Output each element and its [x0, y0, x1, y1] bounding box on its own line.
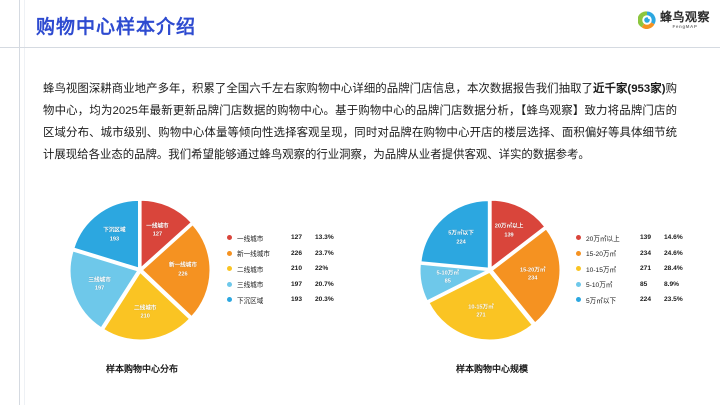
fengmap-swirl-logo-icon: [638, 11, 656, 29]
logo-text-block: 蜂鸟观察 FengMAP: [660, 11, 710, 30]
legend-percent: 23.5%: [664, 296, 698, 303]
intro-text-part1: 蜂鸟视图深耕商业地产多年，积累了全国六千左右家购物中心详细的品牌门店信息，本次数…: [43, 83, 593, 95]
brand-logo: 蜂鸟观察 FengMAP: [638, 11, 710, 30]
legend-percent: 24.6%: [664, 250, 698, 257]
left-frame-line: [19, 0, 20, 405]
legend-category-label: 20万㎡以上: [586, 233, 640, 243]
legend-percent: 20.7%: [315, 281, 349, 288]
legend-row[interactable]: 5-10万㎡858.9%: [576, 277, 698, 293]
legend-row[interactable]: 下沉区域19320.3%: [227, 292, 349, 308]
legend-value: 210: [291, 265, 315, 272]
legend-value: 139: [640, 234, 664, 241]
pie-distribution-svg: [56, 198, 224, 350]
legend-category-label: 15-20万㎡: [586, 248, 640, 258]
legend-category-label: 二线城市: [237, 264, 291, 274]
legend-color-swatch-icon: [576, 235, 581, 240]
slide-canvas: 购物中心样本介绍 蜂鸟观察 FengMAP 蜂鸟视图深耕商业地产多年，积累了全国…: [0, 0, 720, 405]
legend-row[interactable]: 一线城市12713.3%: [227, 230, 349, 246]
legend-percent: 13.3%: [315, 234, 349, 241]
legend-percent: 8.9%: [664, 281, 698, 288]
logo-brand-subtitle: FengMAP: [660, 25, 710, 30]
caption-distribution: 样本购物中心分布: [22, 362, 262, 375]
legend-distribution: 一线城市12713.3%新一线城市22623.7%二线城市21022%三线城市1…: [227, 230, 349, 308]
legend-row[interactable]: 20万㎡以上13914.6%: [576, 230, 698, 246]
legend-value: 271: [640, 265, 664, 272]
legend-color-swatch-icon: [576, 251, 581, 256]
legend-value: 193: [291, 296, 315, 303]
legend-percent: 23.7%: [315, 250, 349, 257]
legend-category-label: 新一线城市: [237, 248, 291, 258]
legend-percent: 28.4%: [664, 265, 698, 272]
pie-slice: [421, 200, 489, 268]
legend-row[interactable]: 二线城市21022%: [227, 261, 349, 277]
legend-row[interactable]: 10-15万㎡27128.4%: [576, 261, 698, 277]
pie-scale-svg: [406, 198, 574, 350]
chart-sample-mall-scale: 20万㎡以上13915-20万㎡23410-15万㎡2715-10万㎡855万㎡…: [372, 196, 712, 392]
legend-category-label: 下沉区域: [237, 295, 291, 305]
page-title: 购物中心样本介绍: [36, 12, 196, 39]
legend-row[interactable]: 新一线城市22623.7%: [227, 246, 349, 262]
legend-color-swatch-icon: [576, 266, 581, 271]
legend-value: 226: [291, 250, 315, 257]
chart-sample-mall-distribution: 一线城市127新一线城市226二线城市210三线城市197下沉区域193 一线城…: [22, 196, 362, 392]
legend-color-swatch-icon: [227, 251, 232, 256]
header-separator: [0, 47, 720, 48]
legend-row[interactable]: 5万㎡以下22423.5%: [576, 292, 698, 308]
legend-category-label: 5-10万㎡: [586, 279, 640, 289]
legend-color-swatch-icon: [576, 282, 581, 287]
legend-scale: 20万㎡以上13914.6%15-20万㎡23424.6%10-15万㎡2712…: [576, 230, 698, 308]
legend-color-swatch-icon: [227, 297, 232, 302]
legend-category-label: 三线城市: [237, 279, 291, 289]
legend-color-swatch-icon: [227, 235, 232, 240]
legend-value: 224: [640, 296, 664, 303]
logo-brand-name: 蜂鸟观察: [660, 11, 710, 23]
legend-category-label: 10-15万㎡: [586, 264, 640, 274]
legend-percent: 22%: [315, 265, 349, 272]
legend-value: 234: [640, 250, 664, 257]
intro-text-highlight: 近千家(953家): [593, 83, 666, 95]
legend-category-label: 一线城市: [237, 233, 291, 243]
legend-color-swatch-icon: [227, 282, 232, 287]
legend-value: 127: [291, 234, 315, 241]
legend-row[interactable]: 15-20万㎡23424.6%: [576, 246, 698, 262]
legend-color-swatch-icon: [576, 297, 581, 302]
legend-category-label: 5万㎡以下: [586, 295, 640, 305]
pie-scale: 20万㎡以上13915-20万㎡23410-15万㎡2715-10万㎡855万㎡…: [406, 198, 574, 350]
pie-distribution: 一线城市127新一线城市226二线城市210三线城市197下沉区域193: [56, 198, 224, 350]
legend-color-swatch-icon: [227, 266, 232, 271]
legend-row[interactable]: 三线城市19720.7%: [227, 277, 349, 293]
legend-percent: 14.6%: [664, 234, 698, 241]
intro-paragraph: 蜂鸟视图深耕商业地产多年，积累了全国六千左右家购物中心详细的品牌门店信息，本次数…: [43, 79, 677, 167]
legend-percent: 20.3%: [315, 296, 349, 303]
caption-scale: 样本购物中心规模: [372, 362, 612, 375]
legend-value: 85: [640, 281, 664, 288]
slide-header: 购物中心样本介绍 蜂鸟观察 FengMAP: [0, 0, 720, 47]
legend-value: 197: [291, 281, 315, 288]
